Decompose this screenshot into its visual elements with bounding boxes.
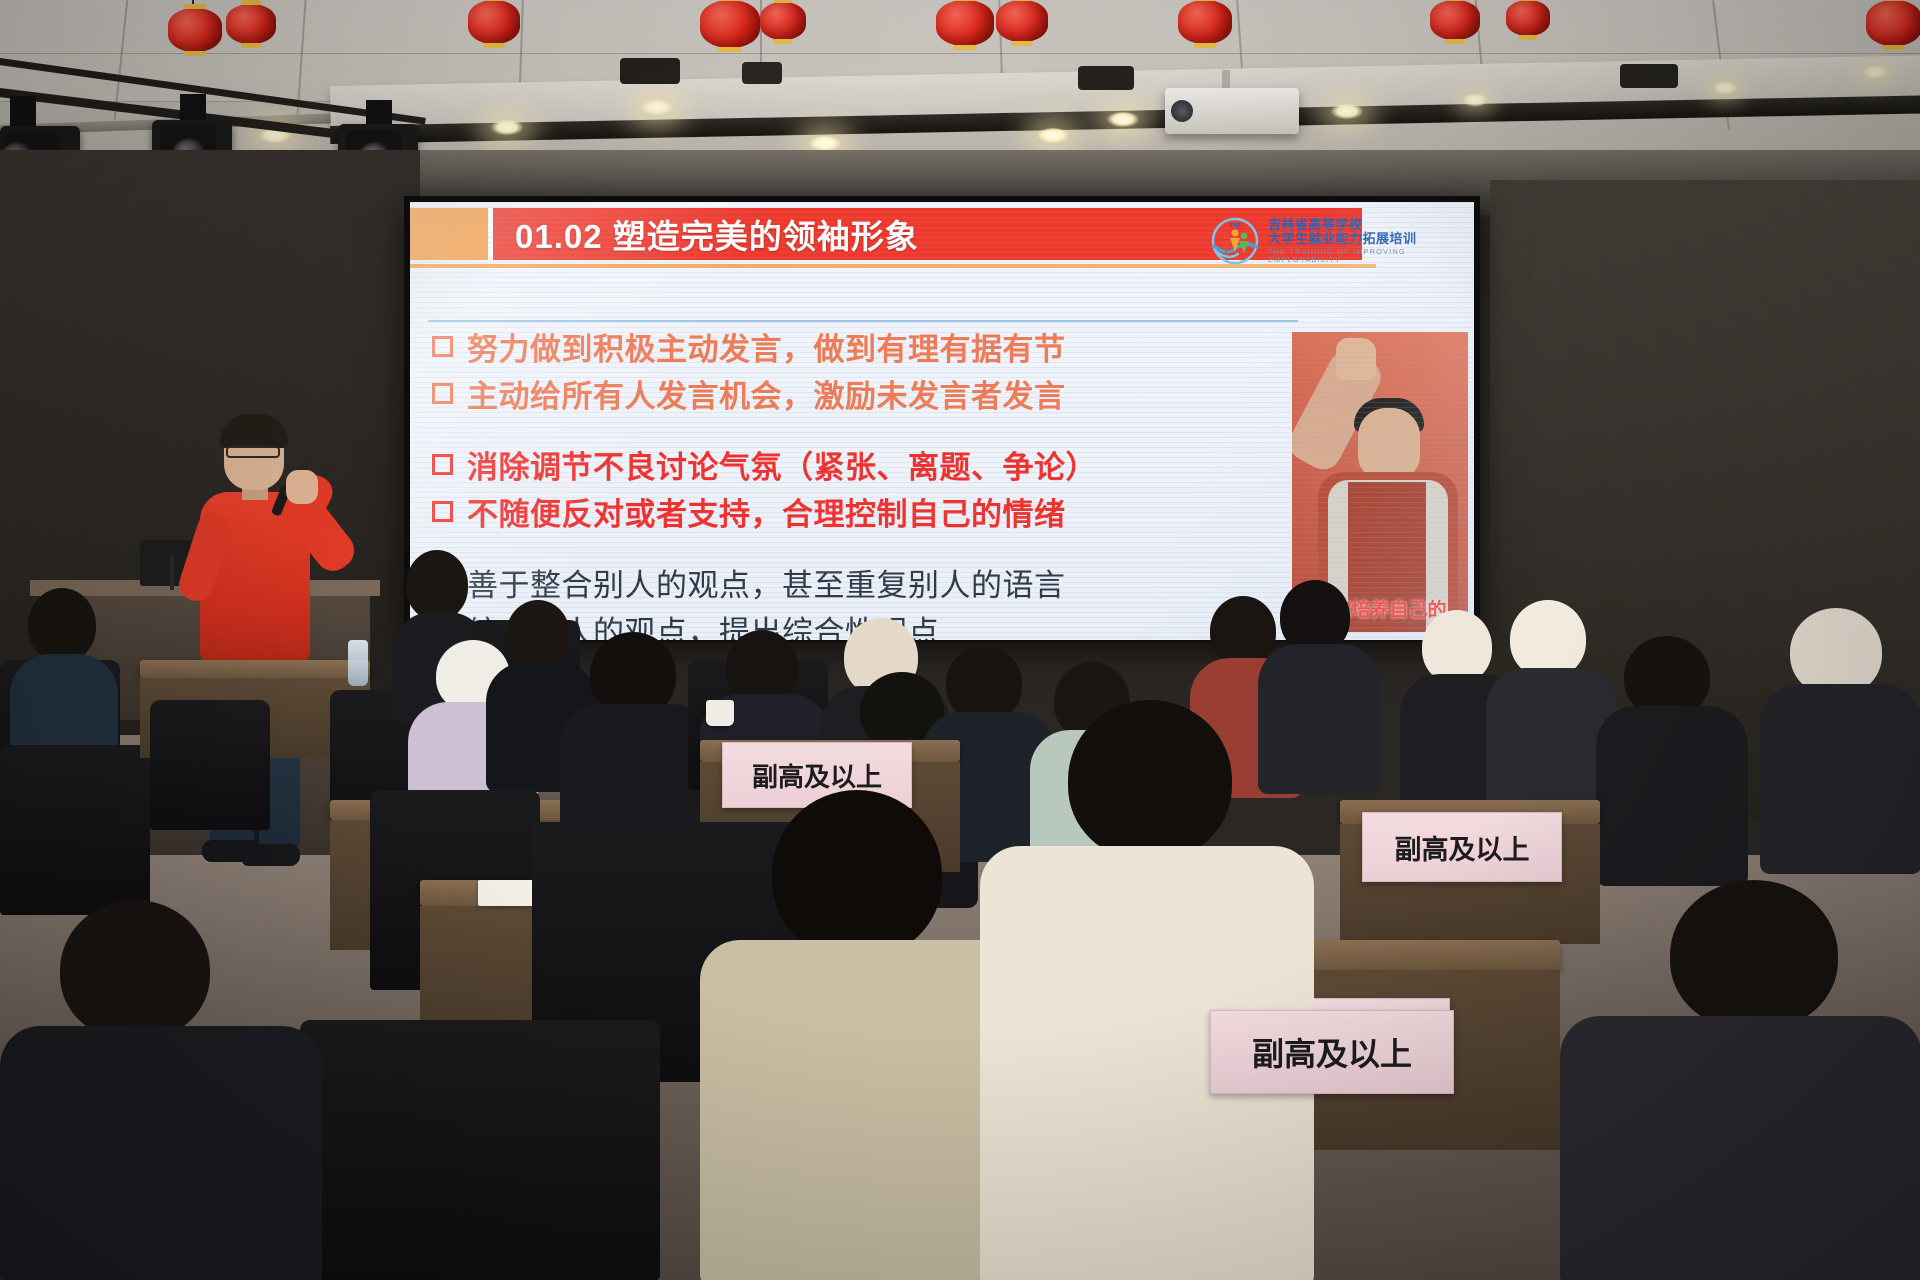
chair xyxy=(150,700,270,830)
organization-logo: TIE 吉林省高等学校 大学生就业能力拓展培训 THE TRAINING OF … xyxy=(1210,216,1474,266)
ceiling-downlight xyxy=(1106,112,1140,128)
water-bottle xyxy=(348,640,368,686)
red-lantern xyxy=(1866,0,1920,46)
red-lantern xyxy=(996,0,1048,42)
projection-screen: 01.02 塑造完美的领袖形象 TIE 吉林省 xyxy=(410,202,1474,640)
attendee xyxy=(1596,636,1746,846)
table-placard: 副高及以上 xyxy=(1210,1010,1454,1094)
tie-logo-icon: TIE xyxy=(1210,216,1260,266)
attendee-foreground xyxy=(0,900,320,1280)
checkbox-icon xyxy=(432,501,453,522)
glasses-icon xyxy=(226,446,280,458)
ceiling-speaker xyxy=(1078,66,1134,90)
checkbox-icon xyxy=(432,454,453,475)
chair xyxy=(0,745,150,915)
slide-title: 01.02 塑造完美的领袖形象 xyxy=(493,210,919,258)
microphone-stand xyxy=(170,556,174,590)
chair xyxy=(300,1020,660,1280)
attendee xyxy=(10,588,120,738)
red-lantern xyxy=(226,4,276,44)
drinking-cup xyxy=(706,700,734,726)
ceiling-downlight xyxy=(1862,66,1888,79)
bullet-group-2: 消除调节不良讨论气氛（紧张、离题、争论） 不随便反对或者支持，合理控制自己的情绪 xyxy=(432,442,1442,534)
desk xyxy=(140,660,370,678)
logo-line-3: THE TRAINING OF IMPROVING EMPLOYABILITY xyxy=(1268,248,1474,264)
attendee-foreground xyxy=(1560,880,1920,1280)
red-lantern xyxy=(468,0,520,44)
ceiling-downlight xyxy=(1712,82,1738,95)
ceiling-downlight xyxy=(640,100,674,116)
logo-text-block: 吉林省高等学校 大学生就业能力拓展培训 THE TRAINING OF IMPR… xyxy=(1268,218,1474,263)
bullet-text: 努力做到积极主动发言，做到有理有据有节 xyxy=(467,324,1066,369)
attendee xyxy=(1760,608,1920,828)
content-rule xyxy=(428,320,1298,322)
bullet-text: 主动给所有人发言机会，激励未发言者发言 xyxy=(467,371,1066,416)
red-lantern xyxy=(936,0,994,46)
bullet-item: 不随便反对或者支持，合理控制自己的情绪 xyxy=(432,489,1442,534)
logo-line-1: 吉林省高等学校 xyxy=(1268,218,1474,232)
title-accent-bar xyxy=(410,208,488,260)
bullet-item: 努力做到积极主动发言，做到有理有据有节 xyxy=(432,324,1442,369)
red-lantern xyxy=(1430,0,1480,40)
red-lantern xyxy=(700,0,760,48)
checkbox-icon xyxy=(432,336,453,357)
table-placard: 副高及以上 xyxy=(1362,812,1562,882)
ceiling-downlight xyxy=(490,120,524,136)
red-lantern xyxy=(760,2,806,40)
bullet-group-1: 努力做到积极主动发言，做到有理有据有节 主动给所有人发言机会，激励未发言者发言 xyxy=(432,324,1442,416)
bullet-text: 消除调节不良讨论气氛（紧张、离题、争论） xyxy=(467,442,1097,487)
checkbox-icon xyxy=(432,383,453,404)
ceiling-speaker xyxy=(1620,64,1678,88)
logo-line-2: 大学生就业能力拓展培训 xyxy=(1268,232,1474,246)
svg-text:TIE: TIE xyxy=(1230,223,1241,230)
ceiling-speaker xyxy=(742,62,782,84)
bullet-item: 消除调节不良讨论气氛（紧张、离题、争论） xyxy=(432,442,1442,487)
bullet-item: 主动给所有人发言机会，激励未发言者发言 xyxy=(432,371,1442,416)
red-lantern xyxy=(1506,0,1550,36)
attendee-foreground xyxy=(980,700,1310,1280)
ceiling-downlight xyxy=(1036,128,1070,144)
ceiling-downlight xyxy=(1462,94,1488,107)
ceiling-projector xyxy=(1165,88,1299,134)
red-lantern xyxy=(1178,0,1232,44)
lecture-hall-scene: 01.02 塑造完美的领袖形象 TIE 吉林省 xyxy=(0,0,1920,1280)
ceiling-speaker xyxy=(620,58,680,84)
bullet-text: 善于整合别人的观点，甚至重复别人的语言 xyxy=(467,560,1066,605)
projector-lens xyxy=(1171,100,1193,122)
presenter-shoe xyxy=(242,844,300,866)
bullet-text: 不随便反对或者支持，合理控制自己的情绪 xyxy=(467,489,1066,534)
red-lantern xyxy=(168,8,222,52)
ceiling-downlight xyxy=(1330,104,1364,120)
